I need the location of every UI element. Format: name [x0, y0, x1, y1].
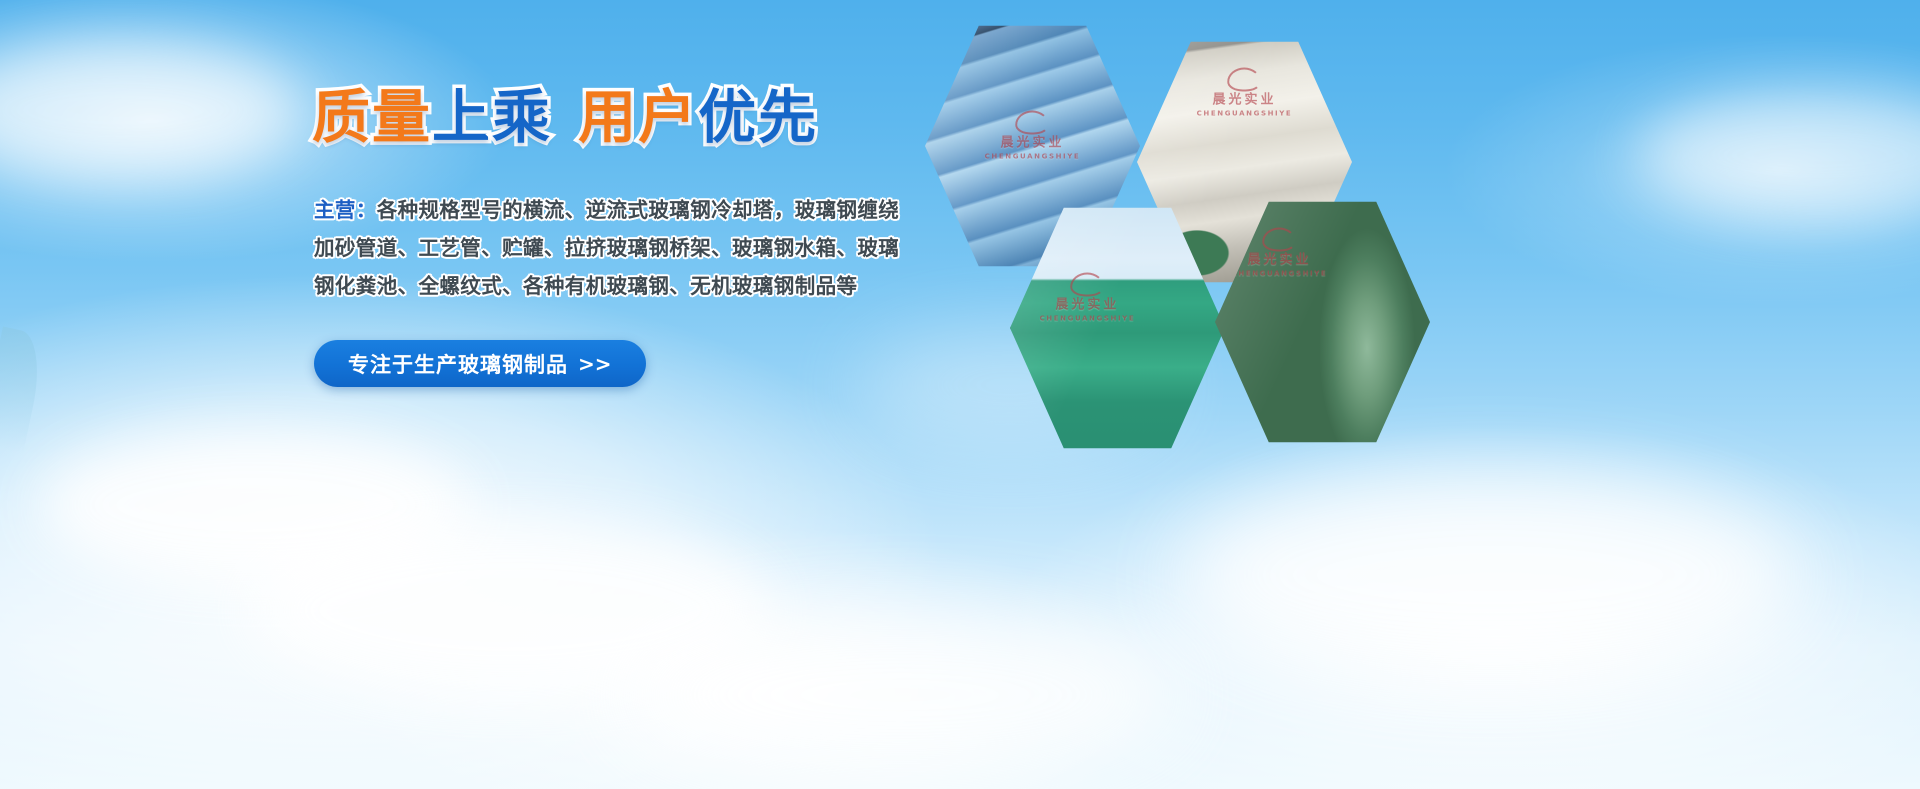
headline-char: 先: [758, 88, 818, 146]
headline-char: 量: [372, 88, 432, 146]
headline-char: 上: [432, 88, 492, 146]
cloud-shape: [0, 40, 300, 180]
cloud-shape: [620, 610, 1180, 780]
double-chevron-right-icon: >>: [578, 352, 612, 376]
cloud-shape: [40, 430, 470, 580]
leaf-decoration: [0, 327, 48, 454]
headline-char: 用: [578, 88, 638, 146]
hero-banner: 质量上乘用户优先 主营：各种规格型号的横流、逆流式玻璃钢冷却塔，玻璃钢缠绕加砂管…: [0, 0, 1920, 789]
headline-char: 户: [638, 88, 698, 146]
headline-char: 优: [698, 88, 758, 146]
cloud-shape: [1180, 470, 1800, 680]
cloud-shape: [250, 520, 770, 700]
cloud-shape: [1640, 90, 1920, 220]
cta-button[interactable]: 专注于生产玻璃钢制品 >>: [314, 340, 646, 387]
hexagon-photo-cluster: 晨光实业 CHENGUANGSHIYE 晨光实业 CHENGUANGSHIYE …: [915, 8, 1435, 428]
headline-char: 乘: [492, 88, 552, 146]
cta-label: 专注于生产玻璃钢制品: [348, 349, 568, 379]
headline: 质量上乘用户优先: [312, 88, 928, 146]
headline-char: 质: [312, 88, 372, 146]
description-paragraph: 主营：各种规格型号的横流、逆流式玻璃钢冷却塔，玻璃钢缠绕加砂管道、工艺管、贮罐、…: [314, 192, 904, 306]
banner-text-block: 质量上乘用户优先 主营：各种规格型号的横流、逆流式玻璃钢冷却塔，玻璃钢缠绕加砂管…: [308, 88, 928, 387]
description-body: 各种规格型号的横流、逆流式玻璃钢冷却塔，玻璃钢缠绕加砂管道、工艺管、贮罐、拉挤玻…: [314, 199, 899, 298]
description-lead: 主营：: [314, 199, 377, 222]
